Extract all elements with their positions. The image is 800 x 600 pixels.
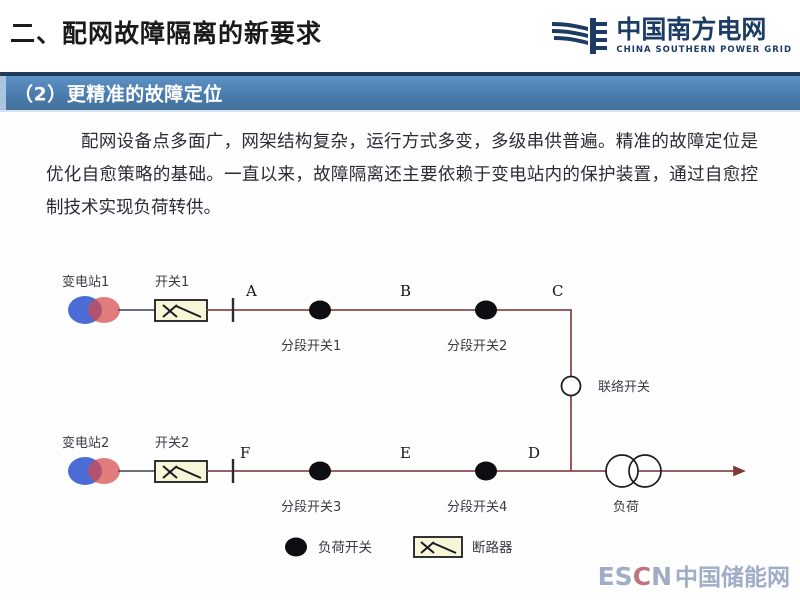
legend-breaker-label: 断路器 bbox=[472, 540, 513, 556]
tie-switch-label: 联络开关 bbox=[598, 379, 650, 395]
watermark-brand-part1: ES bbox=[598, 562, 633, 591]
load-switch-3-label: 分段开关3 bbox=[281, 500, 341, 515]
substation-1-label: 变电站1 bbox=[62, 274, 109, 290]
point-label-f: F bbox=[240, 444, 250, 462]
watermark-brand-part2: N bbox=[651, 562, 672, 591]
substation-1-icon bbox=[68, 296, 120, 324]
slide-page: 二、配网故障隔离的新要求 中国南方电网 bbox=[0, 0, 800, 600]
load-switch-2-label: 分段开关2 bbox=[447, 339, 507, 354]
load-switch-2-icon bbox=[475, 301, 497, 320]
breaker-1-icon bbox=[155, 300, 207, 321]
logo-english-name: CHINA SOUTHERN POWER GRID bbox=[616, 45, 792, 55]
legend-load-switch-icon bbox=[285, 538, 307, 557]
load-switch-3-icon bbox=[309, 462, 331, 481]
point-label-e: E bbox=[400, 444, 411, 462]
watermark-brand: ESCN bbox=[598, 562, 672, 591]
watermark-brand-accent: C bbox=[633, 562, 651, 591]
breaker-2-label: 开关2 bbox=[155, 436, 189, 451]
southern-power-grid-mark-icon bbox=[550, 16, 608, 56]
page-title: 二、配网故障隔离的新要求 bbox=[10, 14, 322, 50]
slide-header: 二、配网故障隔离的新要求 中国南方电网 bbox=[0, 0, 800, 68]
substation-2-label: 变电站2 bbox=[62, 435, 109, 451]
load-switch-1-icon bbox=[309, 301, 331, 320]
distribution-network-diagram: 变电站1 开关1 A B C 分段开关1 分段开关2 联络开关 bbox=[0, 258, 800, 568]
point-label-c: C bbox=[552, 282, 563, 300]
load-label: 负荷 bbox=[613, 500, 639, 515]
section-banner: （2）更精准的故障定位 bbox=[0, 76, 800, 112]
tie-switch-icon bbox=[562, 377, 581, 396]
diagram-legend: 负荷开关 断路器 bbox=[285, 537, 513, 557]
section-banner-title: （2）更精准的故障定位 bbox=[14, 80, 223, 107]
watermark: ESCN 中国储能网 bbox=[598, 558, 790, 592]
point-label-a: A bbox=[245, 282, 257, 300]
logo-chinese-name: 中国南方电网 bbox=[616, 17, 766, 42]
load-switch-4-icon bbox=[475, 462, 497, 481]
watermark-chinese: 中国储能网 bbox=[675, 558, 790, 592]
banner-left-accent bbox=[0, 76, 6, 110]
breaker-2-icon bbox=[155, 461, 207, 482]
breaker-1-label: 开关1 bbox=[155, 275, 189, 290]
load-switch-1-label: 分段开关1 bbox=[281, 339, 341, 354]
logo-text: 中国南方电网 CHINA SOUTHERN POWER GRID bbox=[616, 17, 792, 55]
legend-breaker-icon bbox=[414, 537, 462, 557]
point-label-d: D bbox=[528, 444, 540, 462]
legend-load-switch-label: 负荷开关 bbox=[318, 540, 372, 556]
substation-2-icon bbox=[68, 457, 120, 485]
body-paragraph: 配网设备点多面广，网架结构复杂，运行方式多变，多级串供普遍。精准的故障定位是优化… bbox=[46, 126, 758, 225]
point-label-b: B bbox=[400, 282, 411, 300]
load-switch-4-label: 分段开关4 bbox=[447, 500, 507, 515]
brand-logo: 中国南方电网 CHINA SOUTHERN POWER GRID bbox=[550, 14, 792, 58]
